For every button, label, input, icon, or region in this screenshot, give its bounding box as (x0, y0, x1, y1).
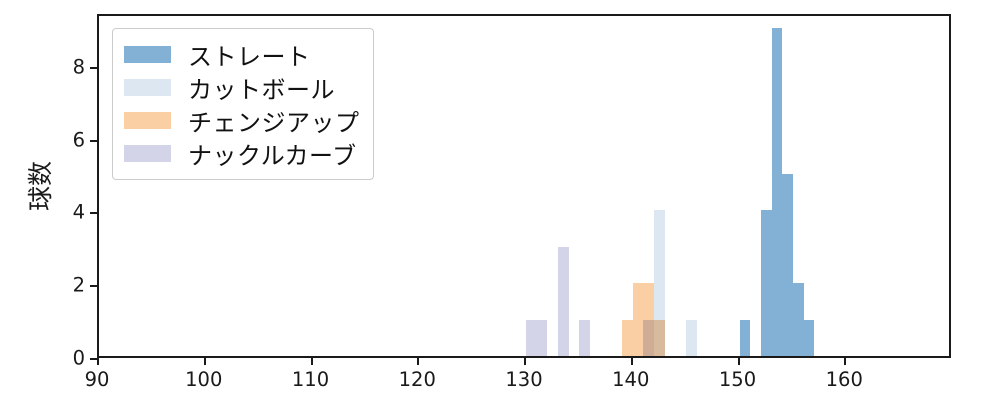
y-tick-label: 4 (73, 201, 85, 224)
histogram-bar (782, 174, 793, 356)
histogram-bar (804, 320, 815, 356)
histogram-bar (761, 210, 772, 356)
x-tick-mark (417, 358, 419, 365)
legend-label: チェンジアップ (188, 103, 360, 138)
y-axis: 球数 02468 (0, 14, 97, 358)
x-tick-label: 120 (399, 368, 436, 391)
histogram-bar (526, 320, 547, 356)
legend-label: ストレート (188, 37, 311, 72)
x-tick-label: 160 (826, 368, 863, 391)
legend-item-2[interactable]: チェンジアップ (124, 104, 360, 137)
y-tick-mark (90, 67, 97, 69)
histogram-bar (654, 320, 665, 356)
legend-item-0[interactable]: ストレート (124, 38, 360, 71)
y-tick-label: 2 (73, 274, 85, 297)
x-tick-label: 100 (185, 368, 222, 391)
y-tick-label: 8 (73, 55, 85, 78)
x-tick-mark (97, 358, 99, 365)
x-tick-label: 140 (612, 368, 649, 391)
histogram-bar (740, 320, 751, 356)
legend-swatch-icon (124, 112, 171, 129)
histogram-bar (643, 320, 654, 356)
x-tick-mark (844, 358, 846, 365)
legend-label: ナックルカーブ (188, 136, 357, 171)
y-tick-label: 0 (73, 347, 85, 370)
y-tick-mark (90, 358, 97, 360)
x-tick-mark (631, 358, 633, 365)
y-tick-label: 6 (73, 128, 85, 151)
legend-swatch-icon (124, 79, 171, 96)
legend-item-3[interactable]: ナックルカーブ (124, 137, 360, 170)
x-tick-mark (524, 358, 526, 365)
legend-item-1[interactable]: カットボール (124, 71, 360, 104)
histogram-bar (558, 247, 569, 356)
x-tick-label: 90 (85, 368, 110, 391)
x-tick-mark (738, 358, 740, 365)
x-axis: 90100110120130140150160 (97, 358, 951, 398)
y-tick-mark (90, 140, 97, 142)
x-tick-mark (311, 358, 313, 365)
y-tick-mark (90, 285, 97, 287)
legend-swatch-icon (124, 145, 171, 162)
histogram-bar (793, 283, 804, 356)
histogram-bar (622, 320, 633, 356)
y-tick-mark (90, 212, 97, 214)
legend-swatch-icon (124, 46, 171, 63)
histogram-bar (686, 320, 697, 356)
histogram-bar (579, 320, 590, 356)
x-tick-label: 130 (505, 368, 542, 391)
x-tick-label: 150 (719, 368, 756, 391)
x-tick-label: 110 (292, 368, 329, 391)
chart-legend: ストレートカットボールチェンジアップナックルカーブ (112, 28, 374, 180)
x-tick-mark (204, 358, 206, 365)
histogram-figure: 球数 02468 90100110120130140150160 ストレートカッ… (0, 0, 1000, 400)
legend-label: カットボール (188, 70, 335, 105)
histogram-bar (772, 28, 783, 356)
y-axis-title: 球数 (21, 161, 57, 211)
